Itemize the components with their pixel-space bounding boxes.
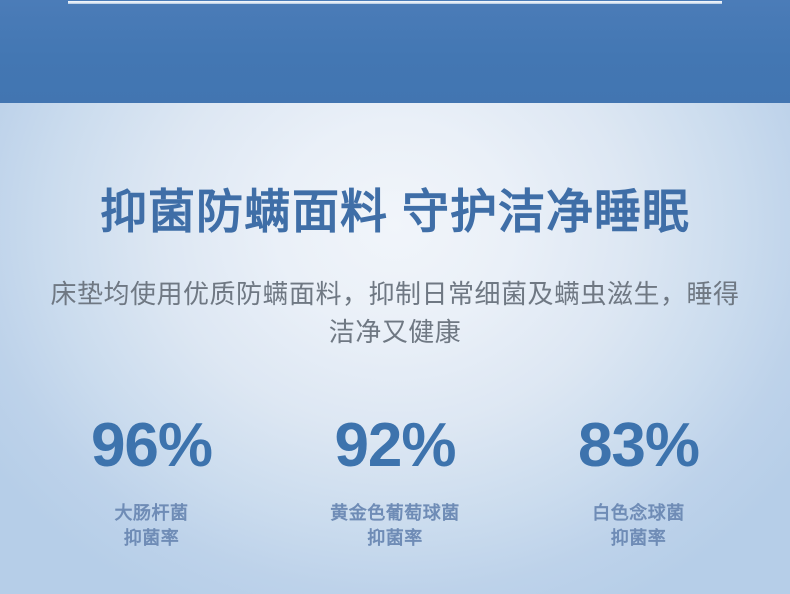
content-area: 抑菌防螨面料 守护洁净睡眠 床垫均使用优质防螨面料，抑制日常细菌及螨虫滋生，睡得… (0, 103, 790, 594)
top-blue-band (0, 0, 790, 103)
stat-label: 白色念球菌 抑菌率 (517, 501, 760, 551)
stat-value: 92% (274, 415, 517, 477)
stat-label: 大肠杆菌 抑菌率 (30, 501, 273, 551)
stats-row: 96% 大肠杆菌 抑菌率 92% 黄金色葡萄球菌 抑菌率 83% 白色念球菌 抑… (30, 415, 760, 551)
stat-label-line2: 抑菌率 (517, 526, 760, 551)
stat-label-line1: 白色念球菌 (592, 503, 685, 523)
stat-label-line2: 抑菌率 (274, 526, 517, 551)
stat-item: 92% 黄金色葡萄球菌 抑菌率 (274, 415, 517, 551)
promo-page: 抑菌防螨面料 守护洁净睡眠 床垫均使用优质防螨面料，抑制日常细菌及螨虫滋生，睡得… (0, 0, 790, 594)
stat-item: 96% 大肠杆菌 抑菌率 (30, 415, 273, 551)
page-title: 抑菌防螨面料 守护洁净睡眠 (0, 186, 790, 239)
stat-value: 83% (517, 415, 760, 477)
stat-label: 黄金色葡萄球菌 抑菌率 (274, 501, 517, 551)
stat-label-line1: 大肠杆菌 (115, 503, 189, 523)
stat-label-line2: 抑菌率 (30, 526, 273, 551)
top-divider-rule (68, 1, 722, 4)
stat-value: 96% (30, 415, 273, 477)
page-subtitle: 床垫均使用优质防螨面料，抑制日常细菌及螨虫滋生，睡得洁净又健康 (50, 275, 740, 352)
stat-item: 83% 白色念球菌 抑菌率 (517, 415, 760, 551)
stat-label-line1: 黄金色葡萄球菌 (330, 503, 460, 523)
